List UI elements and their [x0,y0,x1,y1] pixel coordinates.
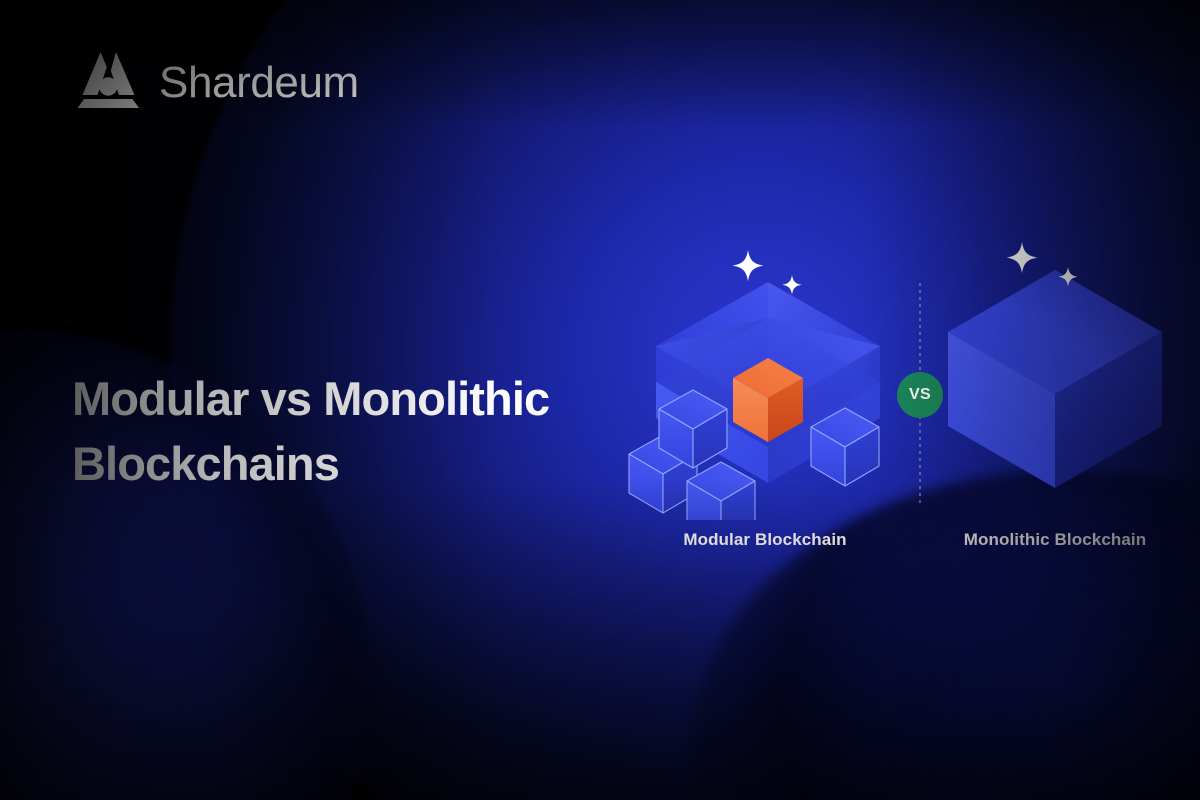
hero-banner: Shardeum Modular vs Monolithic Blockchai… [0,0,1200,800]
monolithic-blockchain-graphic [910,230,1200,520]
page-title: Modular vs Monolithic Blockchains [72,367,672,497]
modular-blockchain-label: Modular Blockchain [620,530,910,550]
modular-blockchain-graphic [620,230,910,520]
monolithic-blockchain-panel: Monolithic Blockchain [910,230,1200,570]
monolithic-solid-cube [948,270,1162,488]
page-title-line-1: Modular vs Monolithic [72,367,672,432]
shardeum-logo[interactable]: Shardeum [71,51,359,114]
shardeum-wordmark: Shardeum [159,61,359,105]
monolithic-blockchain-label: Monolithic Blockchain [910,530,1200,550]
page-title-line-2: Blockchains [72,432,672,497]
vs-badge: VS [897,372,943,418]
modular-blockchain-panel: Modular Blockchain [620,230,910,570]
shardeum-triangle-logo-icon [71,51,145,114]
